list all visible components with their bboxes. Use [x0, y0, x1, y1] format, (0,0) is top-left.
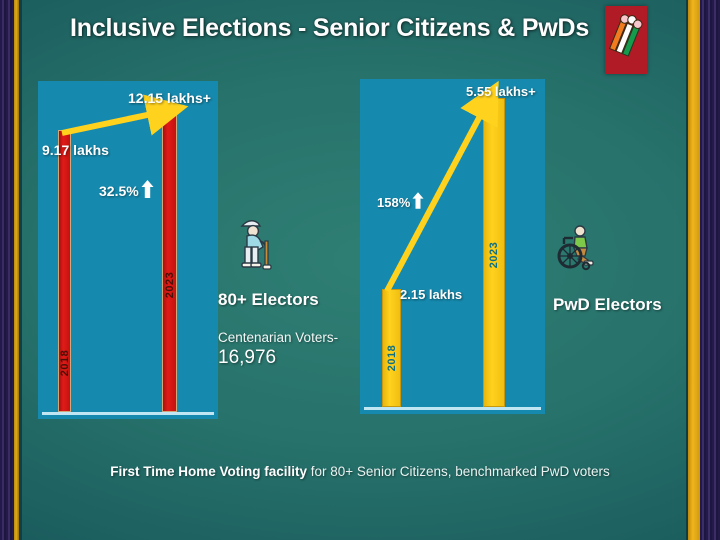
bar-2018: 2018 [58, 130, 71, 412]
slide-footer: First Time Home Voting facility for 80+ … [0, 464, 720, 479]
middle-info-block: 80+ Electors Centenarian Voters- 16,976 [218, 215, 358, 369]
left-inner-edge [19, 0, 22, 540]
bar-label-2023: 2023 [164, 272, 176, 298]
footer-bold-text: First Time Home Voting facility [110, 464, 307, 479]
value-label-2023-right: 5.55 lakhs+ [466, 84, 536, 99]
heading-pwd-electors: PwD Electors [553, 295, 693, 315]
chart-baseline [42, 412, 214, 415]
growth-percent-right: 158% [377, 195, 410, 210]
chart-80plus-electors: 2018 2023 [38, 81, 218, 419]
bar-2023: 2023 [162, 109, 177, 412]
value-label-2023-left: 12.15 lakhs+ [128, 90, 211, 106]
bar-label-2023: 2023 [488, 242, 500, 268]
wheelchair-person-icon [553, 222, 693, 277]
growth-badge-left: 32.5% [99, 180, 154, 201]
up-arrow-icon [412, 192, 424, 212]
elderly-person-with-cane-icon [232, 215, 358, 278]
growth-percent-left: 32.5% [99, 183, 139, 199]
chart-baseline [364, 407, 541, 410]
bar-2018: 2018 [382, 289, 401, 407]
presentation-slide: Inclusive Elections - Senior Citizens & … [0, 0, 720, 540]
centenarian-voters-value: 16,976 [218, 347, 358, 369]
pwd-info-block: PwD Electors [553, 222, 693, 315]
bar-label-2018: 2018 [386, 345, 398, 371]
slide-title: Inclusive Elections - Senior Citizens & … [70, 14, 590, 54]
bar-label-2018: 2018 [59, 350, 71, 376]
up-arrow-icon [141, 180, 154, 201]
footer-rest-text: for 80+ Senior Citizens, benchmarked PwD… [307, 464, 610, 479]
right-decorative-band [700, 0, 720, 540]
growth-badge-right: 158% [377, 192, 424, 212]
value-label-2018-left: 9.17 lakhs [42, 142, 109, 158]
chart-pwd-electors: 2018 2023 [360, 79, 545, 414]
value-label-2018-right: 2.15 lakhs [400, 287, 462, 302]
eci-logo [605, 6, 647, 74]
centenarian-voters-label: Centenarian Voters- [218, 330, 358, 345]
heading-80plus-electors: 80+ Electors [218, 290, 358, 310]
bar-2023: 2023 [483, 98, 505, 407]
left-decorative-band [0, 0, 14, 540]
